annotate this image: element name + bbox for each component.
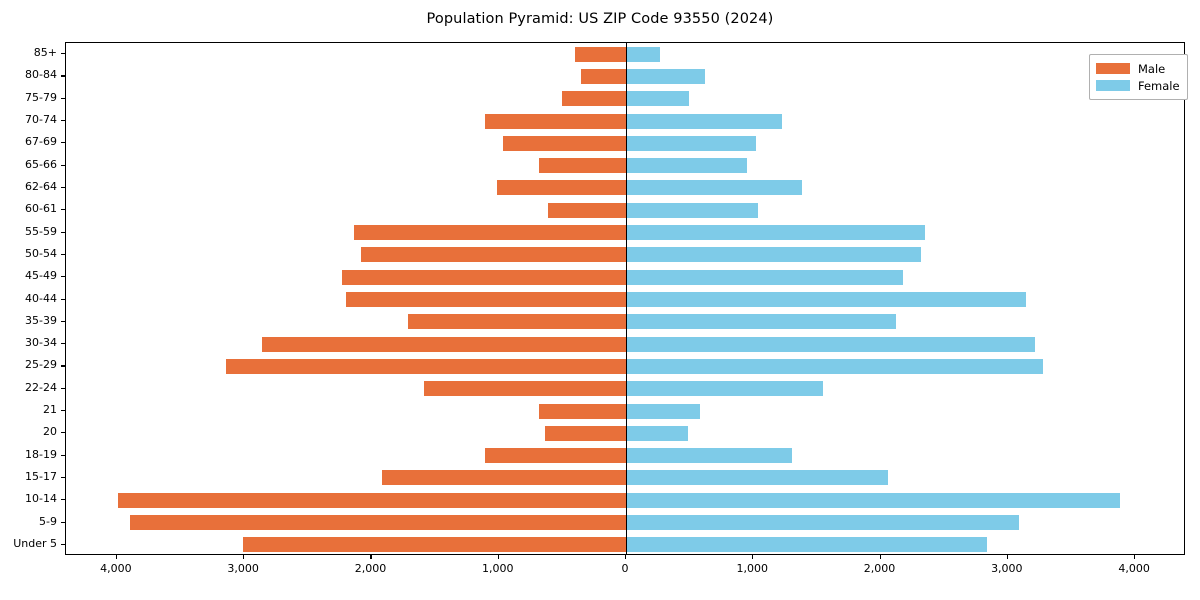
legend-swatch-female: [1096, 80, 1130, 91]
chart-figure: Population Pyramid: US ZIP Code 93550 (2…: [0, 0, 1200, 600]
y-tick-label: 60-61: [0, 202, 57, 215]
y-tick-label: 35-39: [0, 314, 57, 327]
zero-axis-line: [626, 43, 627, 554]
y-tick-label: 18-19: [0, 448, 57, 461]
y-tick-mark: [61, 299, 65, 300]
y-tick-mark: [61, 321, 65, 322]
legend-swatch-male: [1096, 63, 1130, 74]
bar-male-60-61: [548, 203, 626, 218]
y-tick-mark: [61, 432, 65, 433]
bar-female-25-29: [626, 359, 1043, 374]
bar-male-62-64: [497, 180, 626, 195]
bar-male-50-54: [361, 247, 626, 262]
bar-female-5-9: [626, 515, 1019, 530]
chart-title: Population Pyramid: US ZIP Code 93550 (2…: [0, 11, 1200, 27]
bar-male-85-: [575, 47, 626, 62]
x-tick-mark: [116, 555, 117, 559]
y-tick-label: 62-64: [0, 180, 57, 193]
y-tick-label: Under 5: [0, 537, 57, 550]
bar-male-under-5: [243, 537, 626, 552]
bar-female-under-5: [626, 537, 987, 552]
x-tick-label: 0: [622, 562, 629, 575]
bar-male-5-9: [130, 515, 626, 530]
legend-label-female: Female: [1138, 79, 1180, 93]
y-tick-label: 70-74: [0, 113, 57, 126]
bar-female-85-: [626, 47, 660, 62]
y-tick-mark: [61, 209, 65, 210]
bar-male-67-69: [503, 136, 626, 151]
y-tick-label: 50-54: [0, 247, 57, 260]
bar-male-18-19: [485, 448, 626, 463]
bars-layer: [66, 43, 1184, 554]
bar-male-20: [545, 426, 626, 441]
y-tick-mark: [61, 276, 65, 277]
bar-male-45-49: [342, 270, 626, 285]
legend-item-female: Female: [1096, 77, 1180, 94]
bar-female-75-79: [626, 91, 689, 106]
bar-female-70-74: [626, 114, 782, 129]
y-tick-label: 20: [0, 425, 57, 438]
y-tick-label: 55-59: [0, 225, 57, 238]
y-tick-label: 65-66: [0, 158, 57, 171]
bar-female-21: [626, 404, 700, 419]
y-tick-mark: [61, 232, 65, 233]
y-tick-label: 15-17: [0, 470, 57, 483]
y-tick-mark: [61, 343, 65, 344]
bar-female-22-24: [626, 381, 823, 396]
bar-male-75-79: [562, 91, 626, 106]
x-tick-mark: [625, 555, 626, 559]
bar-female-60-61: [626, 203, 758, 218]
bar-female-10-14: [626, 493, 1120, 508]
y-tick-mark: [61, 75, 65, 76]
bar-female-65-66: [626, 158, 747, 173]
x-tick-mark: [752, 555, 753, 559]
bar-female-20: [626, 426, 688, 441]
bar-male-35-39: [408, 314, 626, 329]
y-tick-mark: [61, 120, 65, 121]
x-tick-label: 2,000: [355, 562, 387, 575]
bar-female-18-19: [626, 448, 792, 463]
y-tick-mark: [61, 388, 65, 389]
x-tick-mark: [370, 555, 371, 559]
y-tick-label: 22-24: [0, 381, 57, 394]
y-tick-mark: [61, 53, 65, 54]
bar-female-80-84: [626, 69, 705, 84]
y-tick-label: 85+: [0, 46, 57, 59]
bar-male-22-24: [424, 381, 626, 396]
y-tick-mark: [61, 477, 65, 478]
y-tick-label: 67-69: [0, 135, 57, 148]
y-tick-mark: [61, 365, 65, 366]
y-tick-mark: [61, 544, 65, 545]
bar-male-55-59: [354, 225, 626, 240]
y-tick-label: 40-44: [0, 292, 57, 305]
x-tick-mark: [1134, 555, 1135, 559]
bar-female-50-54: [626, 247, 921, 262]
x-tick-label: 2,000: [864, 562, 896, 575]
y-tick-label: 25-29: [0, 358, 57, 371]
y-tick-label: 80-84: [0, 68, 57, 81]
y-tick-mark: [61, 165, 65, 166]
bar-male-15-17: [382, 470, 626, 485]
y-tick-mark: [61, 499, 65, 500]
y-tick-mark: [61, 142, 65, 143]
x-tick-mark: [498, 555, 499, 559]
bar-male-80-84: [581, 69, 626, 84]
y-tick-label: 21: [0, 403, 57, 416]
y-tick-mark: [61, 187, 65, 188]
y-tick-mark: [61, 98, 65, 99]
plot-area: [65, 42, 1185, 555]
bar-male-70-74: [485, 114, 626, 129]
bar-male-25-29: [226, 359, 626, 374]
bar-male-10-14: [118, 493, 626, 508]
bar-male-30-34: [262, 337, 626, 352]
bar-male-21: [539, 404, 626, 419]
bar-male-65-66: [539, 158, 626, 173]
y-tick-label: 5-9: [0, 515, 57, 528]
bar-female-40-44: [626, 292, 1026, 307]
x-tick-label: 1,000: [737, 562, 769, 575]
y-tick-label: 30-34: [0, 336, 57, 349]
x-tick-label: 4,000: [1118, 562, 1150, 575]
y-tick-mark: [61, 455, 65, 456]
legend-label-male: Male: [1138, 62, 1165, 76]
bar-female-35-39: [626, 314, 896, 329]
bar-female-62-64: [626, 180, 802, 195]
y-tick-mark: [61, 254, 65, 255]
y-tick-label: 10-14: [0, 492, 57, 505]
bar-female-30-34: [626, 337, 1035, 352]
bar-female-45-49: [626, 270, 903, 285]
x-tick-label: 3,000: [991, 562, 1023, 575]
bar-female-67-69: [626, 136, 756, 151]
y-tick-mark: [61, 522, 65, 523]
bar-female-55-59: [626, 225, 925, 240]
y-tick-mark: [61, 410, 65, 411]
x-tick-mark: [243, 555, 244, 559]
y-tick-label: 75-79: [0, 91, 57, 104]
x-tick-mark: [880, 555, 881, 559]
x-tick-label: 3,000: [227, 562, 259, 575]
x-tick-mark: [1007, 555, 1008, 559]
y-tick-label: 45-49: [0, 269, 57, 282]
x-tick-label: 4,000: [100, 562, 132, 575]
bar-male-40-44: [346, 292, 626, 307]
x-tick-label: 1,000: [482, 562, 514, 575]
bar-female-15-17: [626, 470, 888, 485]
legend-item-male: Male: [1096, 60, 1180, 77]
chart-legend: Male Female: [1089, 54, 1188, 100]
